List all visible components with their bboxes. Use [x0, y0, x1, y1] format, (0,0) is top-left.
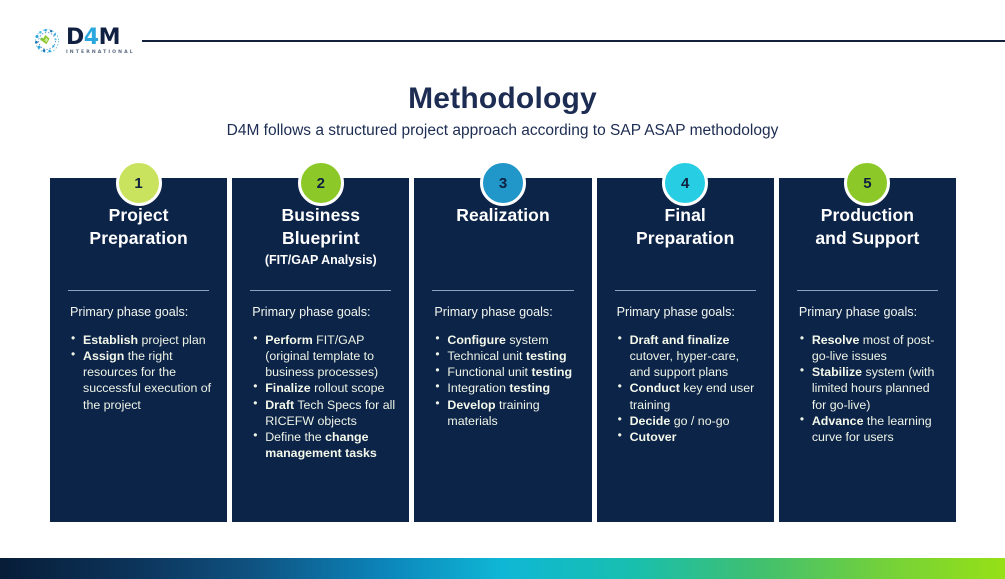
goal-item-emphasis: Conduct: [630, 381, 680, 395]
logo-globe-icon: [32, 26, 62, 56]
goal-item: Cutover: [617, 429, 760, 445]
phase-title: Productionand Support: [793, 204, 942, 251]
goal-item-emphasis-tail: testing: [526, 349, 567, 363]
phase-title-line-1: Business: [246, 204, 395, 227]
goal-item: Configure system: [434, 332, 577, 348]
phase-title-line-2: Preparation: [64, 227, 213, 250]
phase-card-3: RealizationPrimary phase goals:Configure…: [414, 178, 591, 522]
goal-item: Resolve most of post-go-live issues: [799, 332, 942, 364]
goal-item: Draft and finalize cutover, hyper-care, …: [617, 332, 760, 380]
phase-card-1: ProjectPreparationPrimary phase goals:Es…: [50, 178, 227, 522]
phase-title: Realization: [428, 204, 577, 227]
phase-card-2: BusinessBlueprint(FIT/GAP Analysis)Prima…: [232, 178, 409, 522]
goal-item: Stabilize system (with limited hours pla…: [799, 364, 942, 412]
goal-item-emphasis: Stabilize: [812, 365, 862, 379]
phase-badge-5[interactable]: 5: [844, 160, 890, 206]
phase-badge-2[interactable]: 2: [298, 160, 344, 206]
goal-item: Draft Tech Specs for all RICEFW objects: [252, 397, 395, 429]
goal-item: Establish project plan: [70, 332, 213, 348]
phase-subtitle: (FIT/GAP Analysis): [246, 252, 395, 268]
goal-item-emphasis: Resolve: [812, 333, 860, 347]
goal-item: Technical unit testing: [434, 348, 577, 364]
logo-wordmark-text: D4M: [66, 27, 135, 49]
goals-label: Primary phase goals:: [252, 305, 395, 319]
goals-label: Primary phase goals:: [434, 305, 577, 319]
goal-item: Assign the right resources for the succe…: [70, 348, 213, 413]
slide-header: D4M INTERNATIONAL: [0, 0, 1005, 70]
phase-columns: 1ProjectPreparationPrimary phase goals:E…: [50, 160, 956, 522]
goals-label: Primary phase goals:: [617, 305, 760, 319]
goals-list: Configure systemTechnical unit testingFu…: [428, 332, 577, 429]
goals-list: Resolve most of post-go-live issuesStabi…: [793, 332, 942, 445]
goal-item-emphasis: Draft: [265, 398, 294, 412]
goals-label: Primary phase goals:: [799, 305, 942, 319]
phase-divider: [615, 290, 756, 291]
goal-item: Conduct key end user training: [617, 380, 760, 412]
phase-title-line-2: Preparation: [611, 227, 760, 250]
logo-letter-4: 4: [84, 25, 99, 50]
phase-divider: [250, 290, 391, 291]
page-title: Methodology: [0, 82, 1005, 116]
phase-column-2: 2BusinessBlueprint(FIT/GAP Analysis)Prim…: [232, 160, 409, 522]
goal-item-emphasis-tail: change management tasks: [265, 430, 377, 460]
phase-title-line-2: and Support: [793, 227, 942, 250]
goal-item-emphasis: Cutover: [630, 430, 677, 444]
slide-root: D4M INTERNATIONAL Methodology D4M follow…: [0, 0, 1005, 579]
goal-item: Decide go / no-go: [617, 413, 760, 429]
phase-title-line-2: Blueprint: [246, 227, 395, 250]
phase-title-wrap: BusinessBlueprint(FIT/GAP Analysis): [246, 204, 395, 276]
goal-item-emphasis: Finalize: [265, 381, 310, 395]
goal-item-emphasis-tail: testing: [531, 365, 572, 379]
phase-title: FinalPreparation: [611, 204, 760, 251]
logo-letter-m: M: [99, 25, 120, 50]
phase-divider: [797, 290, 938, 291]
d4m-logo: D4M INTERNATIONAL: [32, 24, 132, 58]
phase-card-5: Productionand SupportPrimary phase goals…: [779, 178, 956, 522]
goal-item-emphasis-tail: testing: [509, 381, 550, 395]
goals-list: Draft and finalize cutover, hyper-care, …: [611, 332, 760, 445]
logo-subtext: INTERNATIONAL: [66, 51, 135, 56]
phase-badge-4[interactable]: 4: [662, 160, 708, 206]
goals-list: Perform FIT/GAP (original template to bu…: [246, 332, 395, 461]
header-divider-line: [142, 40, 1005, 42]
phase-title: BusinessBlueprint: [246, 204, 395, 251]
phase-title-wrap: Productionand Support: [793, 204, 942, 276]
goal-item: Finalize rollout scope: [252, 380, 395, 396]
phase-title-line-1: Project: [64, 204, 213, 227]
logo-wordmark: D4M INTERNATIONAL: [66, 27, 135, 56]
goal-item-emphasis: Develop: [447, 398, 495, 412]
phase-badge-3[interactable]: 3: [480, 160, 526, 206]
phase-title-line-1: Final: [611, 204, 760, 227]
phase-title-wrap: ProjectPreparation: [64, 204, 213, 276]
goal-item-emphasis: Configure: [447, 333, 506, 347]
phase-card-4: FinalPreparationPrimary phase goals:Draf…: [597, 178, 774, 522]
goal-item: Integration testing: [434, 380, 577, 396]
bottom-gradient-bar: [0, 558, 1005, 579]
goals-label: Primary phase goals:: [70, 305, 213, 319]
phase-column-3: 3RealizationPrimary phase goals:Configur…: [414, 160, 591, 522]
phase-title-wrap: Realization: [428, 204, 577, 276]
phase-title-line-1: Realization: [428, 204, 577, 227]
goal-item: Define the change management tasks: [252, 429, 395, 461]
phase-divider: [68, 290, 209, 291]
phase-column-5: 5Productionand SupportPrimary phase goal…: [779, 160, 956, 522]
goal-item-emphasis: Advance: [812, 414, 864, 428]
goal-item-emphasis: Draft and finalize: [630, 333, 730, 347]
logo-letter-d: D: [66, 25, 84, 50]
goal-item: Advance the learning curve for users: [799, 413, 942, 445]
phase-title: ProjectPreparation: [64, 204, 213, 251]
goal-item-emphasis: Assign: [83, 349, 124, 363]
goal-item-emphasis: Establish: [83, 333, 138, 347]
phase-column-4: 4FinalPreparationPrimary phase goals:Dra…: [597, 160, 774, 522]
phase-title-line-1: Production: [793, 204, 942, 227]
phase-title-wrap: FinalPreparation: [611, 204, 760, 276]
phase-divider: [432, 290, 573, 291]
goal-item: Functional unit testing: [434, 364, 577, 380]
phase-badge-1[interactable]: 1: [116, 160, 162, 206]
phase-column-1: 1ProjectPreparationPrimary phase goals:E…: [50, 160, 227, 522]
goal-item: Develop training materials: [434, 397, 577, 429]
goal-item: Perform FIT/GAP (original template to bu…: [252, 332, 395, 380]
goals-list: Establish project planAssign the right r…: [64, 332, 213, 413]
goal-item-emphasis: Decide: [630, 414, 671, 428]
goal-item-emphasis: Perform: [265, 333, 313, 347]
page-subtitle: D4M follows a structured project approac…: [0, 122, 1005, 140]
